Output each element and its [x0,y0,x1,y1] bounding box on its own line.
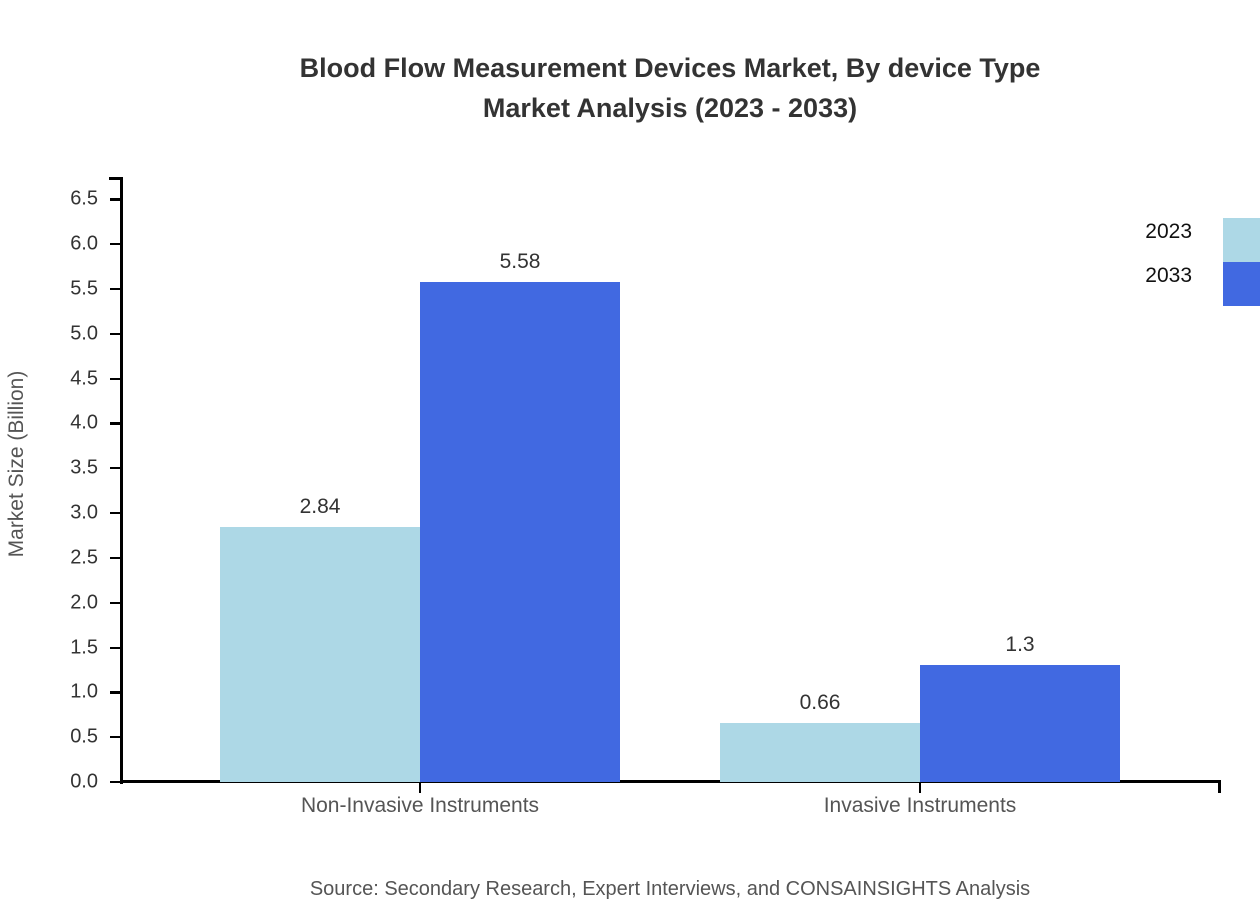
legend-item[interactable]: 2023 [1110,212,1260,256]
y-tick-mark [110,378,121,380]
y-tick-mark [110,557,121,559]
y-tick-label: 5.0 [38,322,98,345]
y-tick-mark [110,333,121,335]
bar-value-label: 2.84 [300,495,341,519]
legend-swatch [1223,262,1260,306]
x-tick-label: Invasive Instruments [824,794,1017,818]
y-tick-label: 0.0 [38,771,98,794]
y-tick-mark [110,467,121,469]
chart-title-line-2: Market Analysis (2023 - 2033) [483,93,857,123]
legend-label: 2033 [1145,264,1192,288]
y-tick-mark [110,243,121,245]
source-note: Source: Secondary Research, Expert Inter… [0,878,1260,901]
y-tick-label: 4.5 [38,367,98,390]
y-tick-label: 6.0 [38,233,98,256]
y-axis-title: Market Size (Billion) [5,204,29,724]
y-tick-label: 2.0 [38,591,98,614]
y-tick-label: 0.5 [38,726,98,749]
y-tick-label: 4.0 [38,412,98,435]
legend-label: 2023 [1145,220,1192,244]
bar[interactable] [720,723,920,782]
y-tick-label: 1.0 [38,681,98,704]
y-tick-mark [110,602,121,604]
bar[interactable] [920,665,1120,782]
chart-title: Blood Flow Measurement Devices Market, B… [0,48,1260,128]
y-tick-label: 6.5 [38,188,98,211]
y-tick-label: 2.5 [38,546,98,569]
x-tick-mark [419,782,421,793]
y-tick-mark [110,422,121,424]
y-axis-top-cap [109,177,122,180]
x-tick-mark [919,782,921,793]
chart-title-line-1: Blood Flow Measurement Devices Market, B… [300,53,1041,83]
y-tick-label: 5.5 [38,278,98,301]
bar-value-label: 1.3 [1005,633,1034,657]
bar-value-label: 5.58 [500,250,541,274]
y-tick-mark [110,198,121,200]
y-tick-mark [110,736,121,738]
y-tick-mark [110,781,121,783]
bar-value-label: 0.66 [800,691,841,715]
y-tick-label: 1.5 [38,636,98,659]
bar[interactable] [220,527,420,782]
y-tick-mark [110,647,121,649]
x-tick-label: Non-Invasive Instruments [301,794,539,818]
y-tick-mark [110,512,121,514]
y-axis-tick-labels: 0.00.51.01.52.02.53.03.54.04.55.05.56.06… [38,0,98,920]
chart-legend: 20232033 [1110,212,1260,312]
bar[interactable] [420,282,620,782]
legend-item[interactable]: 2033 [1110,256,1260,300]
y-tick-mark [110,691,121,693]
y-tick-label: 3.0 [38,502,98,525]
y-tick-mark [110,288,121,290]
x-axis-right-cap [1218,780,1221,793]
y-tick-label: 3.5 [38,457,98,480]
chart-figure: Blood Flow Measurement Devices Market, B… [0,0,1260,920]
